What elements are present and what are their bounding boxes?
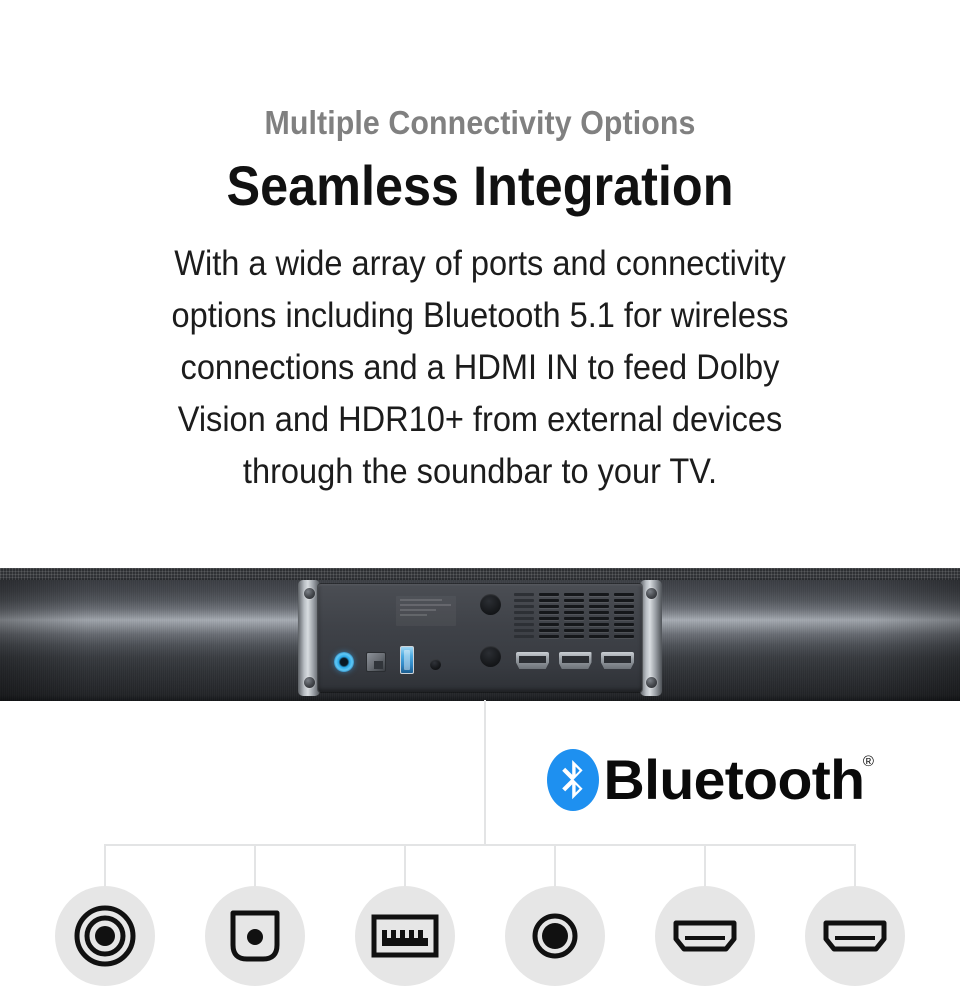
panel-hdmi-port (516, 652, 549, 669)
panel-aux-jack (430, 659, 441, 670)
hdmi-icon (672, 919, 738, 953)
panel-hdmi-port (559, 652, 592, 669)
connector-icon-optical[interactable] (205, 886, 305, 986)
description-paragraph: With a wide array of ports and connectiv… (34, 238, 927, 498)
mount-hole (480, 594, 501, 615)
connector-icon-usb[interactable] (355, 886, 455, 986)
eyebrow-heading: Multiple Connectivity Options (38, 104, 921, 143)
connector-icon-row (0, 886, 960, 988)
connector-line-drop (704, 844, 706, 890)
screw-icon (646, 588, 657, 599)
optical-toslink-icon (228, 909, 282, 963)
panel-bezel-right (640, 580, 662, 696)
bluetooth-wordmark: Bluetooth (603, 752, 864, 808)
usb-a-icon (371, 914, 439, 958)
connector-line-drop (104, 844, 106, 890)
connector-line-drop (404, 844, 406, 890)
panel-optical-jack (334, 652, 354, 672)
registered-trademark-mark: ® (863, 753, 874, 770)
connector-icon-coaxial[interactable] (55, 886, 155, 986)
panel-square-port (366, 652, 386, 672)
screw-icon (304, 588, 315, 599)
connector-line-horizontal-bus (105, 844, 855, 846)
panel-hdmi-port-group (516, 652, 634, 669)
screw-icon (304, 677, 315, 688)
connector-icon-hdmi-2[interactable] (805, 886, 905, 986)
mount-hole (480, 646, 501, 667)
connector-icon-aux[interactable] (505, 886, 605, 986)
bluetooth-rune-icon (547, 749, 599, 811)
connector-line-drop (854, 844, 856, 890)
bluetooth-logo: Bluetooth ® (547, 749, 874, 811)
text-block: Multiple Connectivity Options Seamless I… (0, 0, 960, 498)
panel-usb-port (400, 646, 414, 674)
vent-grille (514, 593, 634, 643)
connector-icon-hdmi-1[interactable] (655, 886, 755, 986)
product-feature-page: Multiple Connectivity Options Seamless I… (0, 0, 960, 1000)
paragraph-line: With a wide array of ports and connectiv… (34, 238, 927, 290)
aux-jack-icon (532, 913, 578, 959)
panel-face (318, 584, 642, 692)
rear-port-panel (298, 580, 662, 696)
soundbar-product-image (0, 568, 960, 701)
paragraph-line: through the soundbar to your TV. (34, 446, 927, 498)
connector-line-drop (554, 844, 556, 890)
paragraph-line: options including Bluetooth 5.1 for wire… (34, 290, 927, 342)
panel-hdmi-port (601, 652, 634, 669)
panel-bezel-left (298, 580, 320, 696)
connector-line-vertical-main (484, 700, 486, 846)
paragraph-line: Vision and HDR10+ from external devices (34, 394, 927, 446)
coaxial-icon (74, 905, 136, 967)
connector-line-drop (254, 844, 256, 890)
panel-warning-label (396, 596, 456, 626)
paragraph-line: connections and a HDMI IN to feed Dolby (34, 342, 927, 394)
hdmi-icon (822, 919, 888, 953)
screw-icon (646, 677, 657, 688)
page-title: Seamless Integration (48, 155, 912, 218)
